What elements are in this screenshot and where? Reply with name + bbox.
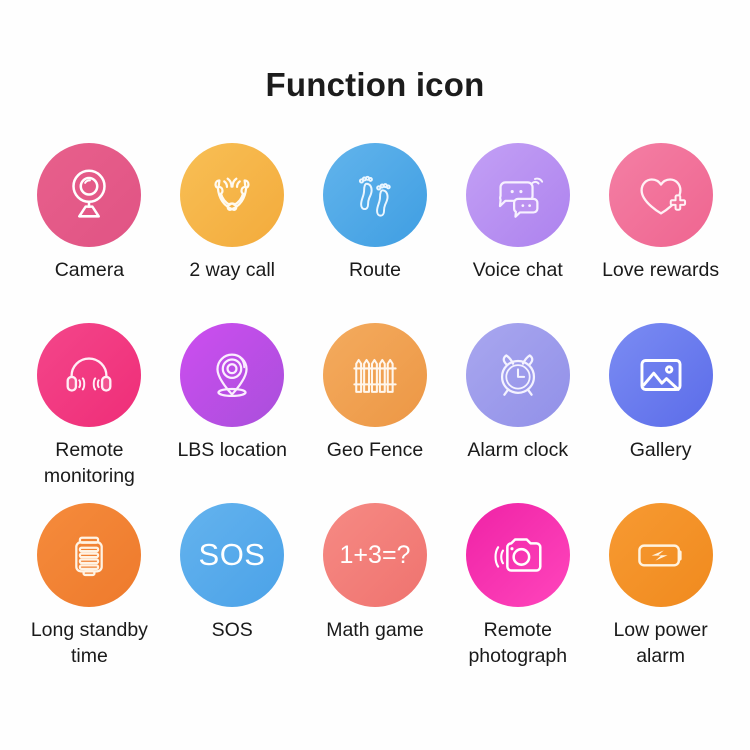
grid-item-sos[interactable]: SOS SOS: [161, 503, 304, 683]
footprints-icon: [345, 165, 405, 225]
grid-item-lbs-location[interactable]: LBS location: [161, 323, 304, 503]
long-standby-icon-circle[interactable]: [37, 503, 141, 607]
grid-item-label: Camera: [55, 258, 124, 284]
headphones-icon: [58, 344, 120, 406]
grid-item-remote-photograph[interactable]: Remote photograph: [446, 503, 589, 683]
webcam-icon: [58, 164, 120, 226]
grid-item-gallery[interactable]: Gallery: [589, 323, 732, 503]
grid-item-label: LBS location: [177, 438, 287, 464]
image-icon: [632, 346, 690, 404]
icon-grid: Camera 2 way call: [0, 143, 750, 683]
grid-item-label: Alarm clock: [467, 438, 568, 464]
grid-item-geo-fence[interactable]: Geo Fence: [304, 323, 447, 503]
alarm-clock-icon: [488, 345, 548, 405]
remote-photograph-icon-circle[interactable]: [466, 503, 570, 607]
grid-item-label: Gallery: [630, 438, 692, 464]
grid-item-label: Math game: [326, 618, 424, 644]
voice-chat-icon-circle[interactable]: [466, 143, 570, 247]
camera-signal-icon: [487, 524, 549, 586]
heart-plus-icon: [630, 164, 692, 226]
grid-item-label: Low power alarm: [591, 618, 731, 669]
grid-item-love-rewards[interactable]: Love rewards: [589, 143, 732, 323]
sos-text-icon: SOS: [187, 525, 277, 585]
battery-vertical-icon: [60, 526, 118, 584]
location-pin-icon: [201, 344, 263, 406]
camera-icon-circle[interactable]: [37, 143, 141, 247]
low-power-alarm-icon-circle[interactable]: [609, 503, 713, 607]
grid-item-label: Geo Fence: [327, 438, 423, 464]
page-title: Function icon: [0, 0, 750, 101]
grid-item-long-standby-time[interactable]: Long standby time: [18, 503, 161, 683]
alarm-clock-icon-circle[interactable]: [466, 323, 570, 427]
grid-item-label: Love rewards: [602, 258, 719, 284]
grid-item-route[interactable]: Route: [304, 143, 447, 323]
grid-item-label: SOS: [212, 618, 253, 644]
grid-item-2-way-call[interactable]: 2 way call: [161, 143, 304, 323]
math-equation-icon: 1+3=?: [327, 527, 423, 583]
grid-item-alarm-clock[interactable]: Alarm clock: [446, 323, 589, 503]
remote-monitoring-icon-circle[interactable]: [37, 323, 141, 427]
lbs-location-icon-circle[interactable]: [180, 323, 284, 427]
fence-icon: [345, 345, 405, 405]
function-icon-poster: Function icon Camera: [0, 0, 750, 750]
grid-item-label: Route: [349, 258, 401, 284]
two-handsets-icon: [201, 164, 263, 226]
math-game-icon-circle[interactable]: 1+3=?: [323, 503, 427, 607]
grid-item-remote-monitoring[interactable]: Remote monitoring: [18, 323, 161, 503]
gallery-icon-circle[interactable]: [609, 323, 713, 427]
math-glyph: 1+3=?: [340, 541, 411, 569]
grid-item-low-power-alarm[interactable]: Low power alarm: [589, 503, 732, 683]
sos-glyph: SOS: [199, 537, 266, 572]
love-rewards-icon-circle[interactable]: [609, 143, 713, 247]
grid-item-label: Remote photograph: [448, 618, 588, 669]
grid-item-math-game[interactable]: 1+3=? Math game: [304, 503, 447, 683]
grid-item-camera[interactable]: Camera: [18, 143, 161, 323]
sos-icon-circle[interactable]: SOS: [180, 503, 284, 607]
two-way-call-icon-circle[interactable]: [180, 143, 284, 247]
speech-bubbles-icon: [487, 164, 549, 226]
grid-item-voice-chat[interactable]: Voice chat: [446, 143, 589, 323]
geo-fence-icon-circle[interactable]: [323, 323, 427, 427]
grid-item-label: Voice chat: [473, 258, 563, 284]
grid-item-label: Remote monitoring: [19, 438, 159, 489]
route-icon-circle[interactable]: [323, 143, 427, 247]
grid-item-label: 2 way call: [189, 258, 275, 284]
battery-lightning-icon: [631, 525, 691, 585]
grid-item-label: Long standby time: [19, 618, 159, 669]
